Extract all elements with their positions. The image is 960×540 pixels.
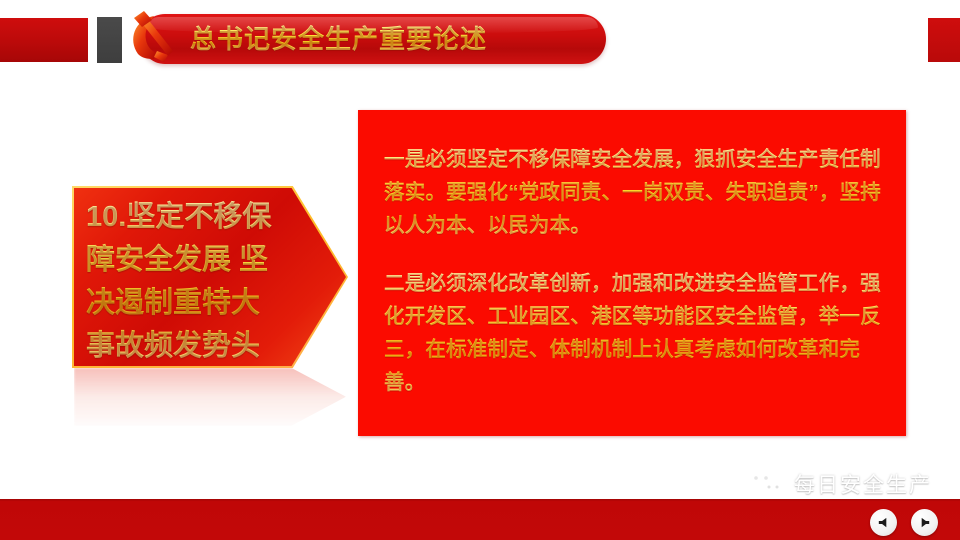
page-title: 总书记安全生产重要论述 [190, 22, 487, 56]
section-banner-line-4: 事故频发势头 [86, 325, 324, 368]
section-banner-line-3: 决遏制重特大 [86, 282, 324, 325]
content-paragraph-2: 二是必须深化改革创新，加强和改进安全监管工作，强化开发区、工业园区、港区等功能区… [384, 267, 894, 399]
arrow-left-icon [876, 515, 891, 530]
content-text-group: 一是必须坚定不移保障安全发展，狠抓安全生产责任制落实。要强化“党政同责、一岗双责… [384, 143, 894, 399]
section-banner-text: 10.坚定不移保 障安全发展 坚 决遏制重特大 事故频发势头 [86, 196, 324, 368]
footer-band [0, 499, 960, 540]
prev-slide-button[interactable] [870, 509, 897, 536]
corner-accent-square [928, 18, 960, 62]
arrow-right-icon [917, 515, 932, 530]
content-paragraph-1: 一是必须坚定不移保障安全发展，狠抓安全生产责任制落实。要强化“党政同责、一岗双责… [384, 143, 894, 242]
watermark-text: 每日安全生产 [794, 469, 932, 499]
slide-navigation [870, 509, 938, 536]
section-banner-line-2: 障安全发展 坚 [86, 239, 324, 282]
header-red-block [0, 18, 88, 62]
slide-canvas: 总书记安全生产重要论述 10.坚定不移保 障安全发展 坚 决遏制重特大 事故频发… [0, 0, 960, 540]
header-gray-block [97, 17, 122, 63]
next-slide-button[interactable] [911, 509, 938, 536]
watermark: 每日安全生产 [746, 468, 932, 500]
section-banner-reflection [74, 368, 346, 432]
section-banner-line-1: 10.坚定不移保 [86, 196, 324, 239]
party-emblem-hammer-sickle-icon [124, 10, 182, 66]
wechat-logo-icon [746, 468, 786, 500]
